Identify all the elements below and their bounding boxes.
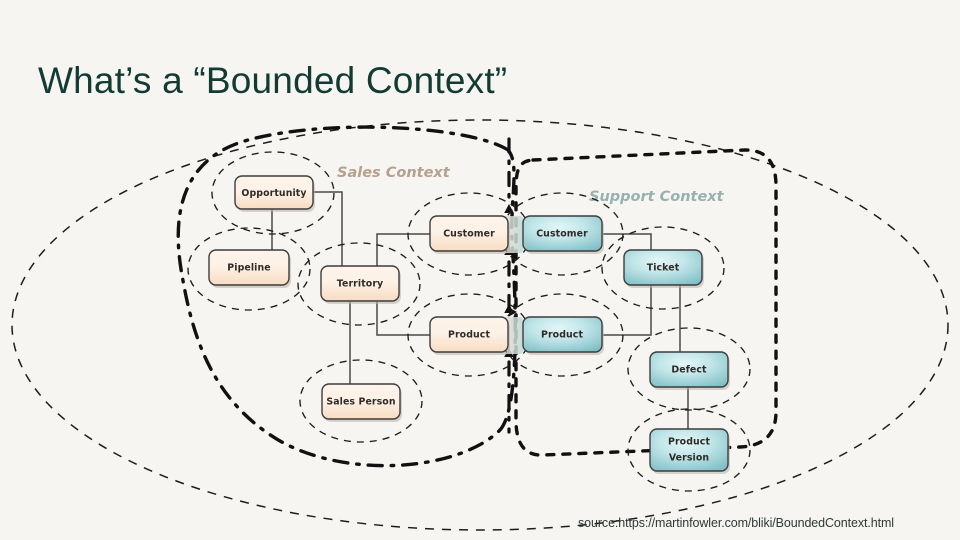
entity-label-product-version-line2: Version <box>669 453 709 464</box>
connector-product-ticket <box>603 285 651 335</box>
entity-sales-person[interactable]: Sales Person <box>322 384 402 422</box>
entity-label-ticket: Ticket <box>647 263 680 274</box>
entity-product-version[interactable]: Product Version <box>650 429 730 474</box>
entity-ticket[interactable]: Ticket <box>624 250 704 288</box>
entity-customer-support[interactable]: Customer <box>523 216 604 254</box>
support-context-label: Support Context <box>589 189 725 205</box>
entity-defect[interactable]: Defect <box>650 352 730 390</box>
entity-label-defect: Defect <box>671 365 707 376</box>
entity-customer-sales[interactable]: Customer <box>430 216 510 254</box>
diagram-svg: Sales Context Support Context <box>0 0 960 540</box>
entity-label-product-support: Product <box>541 330 583 341</box>
entity-label-product-sales: Product <box>448 330 490 341</box>
slide-canvas: What’s a “Bounded Context” <box>0 0 960 540</box>
connector-territory-product <box>377 302 430 335</box>
bounded-context-diagram: Sales Context Support Context <box>0 0 960 540</box>
entity-product-sales[interactable]: Product <box>430 317 510 355</box>
sales-context-label: Sales Context <box>337 165 451 181</box>
entity-territory[interactable]: Territory <box>321 266 401 304</box>
entity-opportunity[interactable]: Opportunity <box>235 176 315 212</box>
entity-label-customer-support: Customer <box>536 229 588 240</box>
connector-territory-customer <box>377 234 430 266</box>
entity-label-customer-sales: Customer <box>443 229 495 240</box>
entity-product-support[interactable]: Product <box>523 317 604 355</box>
entity-label-territory: Territory <box>337 279 384 290</box>
entity-label-product-version-line1: Product <box>668 437 710 448</box>
entity-pipeline[interactable]: Pipeline <box>209 250 291 288</box>
entity-label-opportunity: Opportunity <box>241 188 306 199</box>
source-attribution: source:https://martinfowler.com/bliki/Bo… <box>578 516 894 530</box>
entity-label-pipeline: Pipeline <box>227 263 270 274</box>
entity-label-sales-person: Sales Person <box>326 397 395 408</box>
